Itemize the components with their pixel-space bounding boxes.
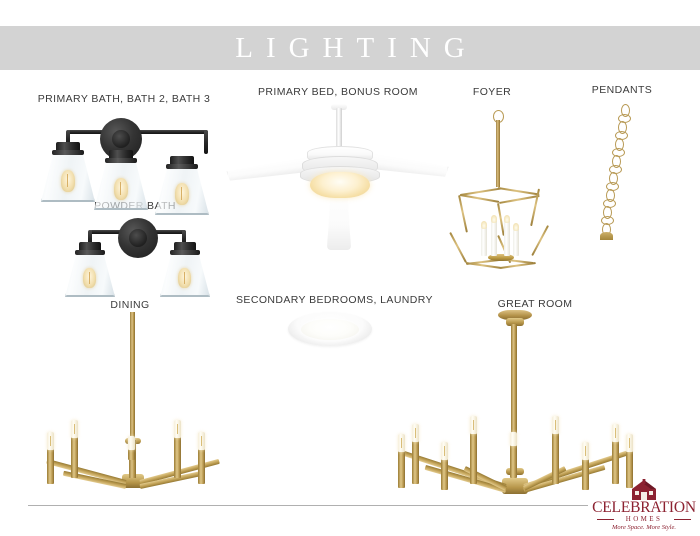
fan-downrod — [336, 108, 342, 150]
fixture-flush-mount-disc — [288, 312, 372, 348]
fixture-ceiling-fan — [228, 104, 443, 249]
label-pendants: PENDANTS — [572, 84, 672, 96]
house-icon — [630, 479, 658, 501]
vanity-backplate-boss — [112, 130, 130, 148]
fixture-foyer-lantern — [448, 106, 552, 281]
disc-lens — [301, 319, 359, 340]
brand-tagline: More Space. More Style. — [592, 525, 696, 532]
vanity-arm-drop-right — [204, 130, 208, 154]
footer-divider — [28, 505, 588, 506]
brand-name: CELEBRATION — [592, 500, 696, 516]
fixture-dining-chandelier — [22, 312, 248, 492]
vanity-bulb-3 — [175, 183, 189, 205]
vanity-bulb-2 — [114, 178, 128, 200]
lantern-frame-post — [458, 195, 468, 233]
label-secondary-bedrooms: SECONDARY BEDROOMS, LAUNDRY — [232, 294, 437, 306]
label-dining: DINING — [85, 299, 175, 311]
page-title: LIGHTING — [222, 34, 478, 63]
fan-light-kit — [310, 172, 370, 198]
dining-stem — [130, 312, 135, 440]
brand-logo: CELEBRATION HOMES More Space. More Style… — [592, 479, 696, 533]
vanity-bulb-1 — [61, 170, 75, 192]
label-great-room: GREAT ROOM — [470, 298, 600, 310]
lighting-selection-board: LIGHTING PRIMARY BATH, BATH 2, BATH 3 PR… — [0, 0, 700, 536]
label-primary-bed: PRIMARY BED, BONUS ROOM — [243, 86, 433, 98]
label-primary-bath: PRIMARY BATH, BATH 2, BATH 3 — [14, 93, 234, 105]
label-foyer: FOYER — [450, 86, 534, 98]
fixture-great-room-chandelier — [382, 310, 672, 500]
brand-name-sub: HOMES — [592, 516, 696, 523]
pendant-dome-shade — [568, 238, 660, 286]
fixture-dome-pendant — [572, 104, 676, 284]
fixture-vanity-2-light — [58, 216, 218, 294]
fixture-vanity-3-light — [28, 112, 228, 197]
header-band: LIGHTING — [0, 26, 700, 70]
lantern-stem — [496, 120, 500, 187]
